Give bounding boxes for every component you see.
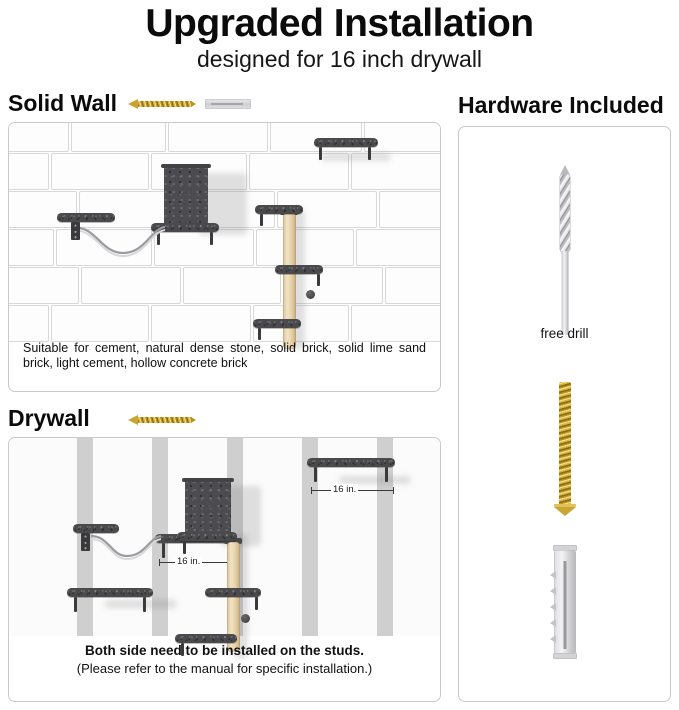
- wall-anchor-icon: [548, 545, 582, 663]
- wall-shelf: [57, 213, 115, 233]
- wall-shelf: [275, 265, 323, 285]
- anchor-icon: [205, 96, 251, 112]
- wood-screw-icon: [553, 382, 577, 520]
- wall-shelf: [205, 588, 261, 608]
- wall-shelf: [255, 205, 303, 225]
- solid-wall-caption: Suitable for cement, natural dense stone…: [9, 337, 440, 377]
- wall-shelf: [307, 458, 395, 482]
- brick-wall-illustration: [9, 123, 440, 341]
- solid-wall-heading: Solid Wall: [8, 90, 117, 116]
- hardware-item-anchor: [459, 545, 670, 675]
- cat-perch-box: [185, 480, 231, 538]
- mounting-bracket: [71, 222, 80, 240]
- hardware-panel: free drill: [458, 126, 671, 702]
- page-subtitle: designed for 16 inch drywall: [0, 45, 679, 73]
- wall-shelf: [67, 588, 153, 612]
- drill-label: free drill: [540, 326, 588, 341]
- hardware-included-heading: Hardware Included: [458, 92, 664, 118]
- screw-icon: [128, 412, 196, 428]
- wall-shelf: [73, 524, 119, 544]
- hanging-toy-ball: [306, 290, 315, 299]
- drywall-panel: 16 in. 16 in.: [8, 437, 441, 702]
- drywall-caption-bold: Both side need to be installed on the st…: [23, 642, 426, 660]
- drywall-illustration: 16 in. 16 in.: [9, 438, 440, 636]
- wall-shelf: [253, 319, 301, 339]
- drill-bit-icon: [555, 165, 575, 335]
- drywall-heading: Drywall: [8, 405, 90, 431]
- drywall-caption: Both side need to be installed on the st…: [9, 638, 440, 683]
- cat-perch-box: [164, 166, 208, 228]
- hardware-item-screw: [459, 382, 670, 532]
- wall-shelf: [177, 532, 237, 552]
- hanging-toy-ball: [241, 614, 250, 623]
- screw-icon: [128, 96, 196, 112]
- page-title: Upgraded Installation: [0, 2, 679, 46]
- drywall-caption-note: (Please refer to the manual for specific…: [23, 660, 426, 677]
- mounting-bracket: [81, 533, 90, 551]
- wall-shelf: [314, 138, 378, 160]
- solid-wall-panel: Suitable for cement, natural dense stone…: [8, 122, 441, 392]
